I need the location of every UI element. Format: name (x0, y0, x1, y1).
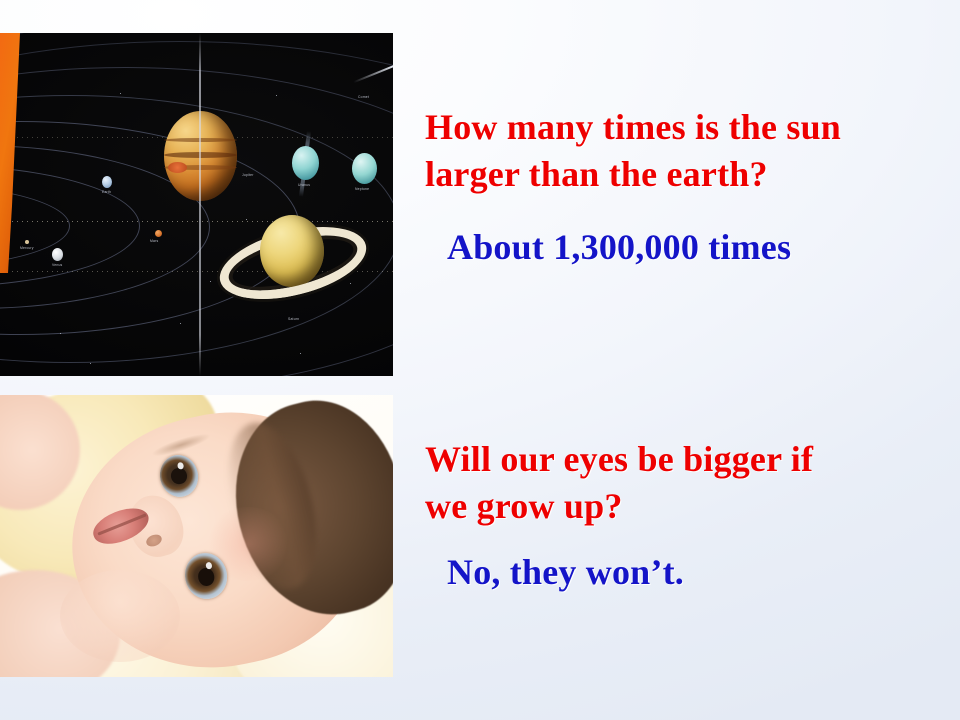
solar-system-photo: Mercury Venus Earth Mars Jupiter Saturn … (0, 33, 393, 376)
planet-label: Mars (150, 239, 158, 243)
planet-label: Jupiter (242, 173, 254, 177)
planet-label: Venus (52, 263, 62, 267)
chin (60, 570, 180, 662)
baby-photo (0, 395, 393, 677)
answer-text-2: No, they won’t. (447, 549, 947, 595)
planet-earth (102, 176, 112, 188)
great-red-spot (168, 162, 187, 173)
question-text-1: How many times is the sun larger than th… (425, 104, 925, 198)
planet-label: Mercury (20, 246, 34, 250)
slide-canvas: Mercury Venus Earth Mars Jupiter Saturn … (0, 0, 960, 720)
planet-label: Saturn (288, 317, 299, 321)
answer-text-1: About 1,300,000 times (447, 224, 947, 270)
planet-label: Comet (358, 95, 369, 99)
planet-uranus (292, 146, 319, 180)
planet-venus (52, 248, 63, 261)
planet-label: Neptune (355, 187, 369, 191)
planet-saturn (218, 209, 368, 317)
book-gutter-seam (199, 33, 201, 376)
planet-mars (155, 230, 162, 237)
planet-label: Uranus (298, 183, 310, 187)
planet-mercury (25, 240, 29, 244)
planet-label: Earth (102, 190, 111, 194)
planet-neptune (352, 153, 377, 184)
question-text-2: Will our eyes be bigger if we grow up? (425, 436, 925, 530)
